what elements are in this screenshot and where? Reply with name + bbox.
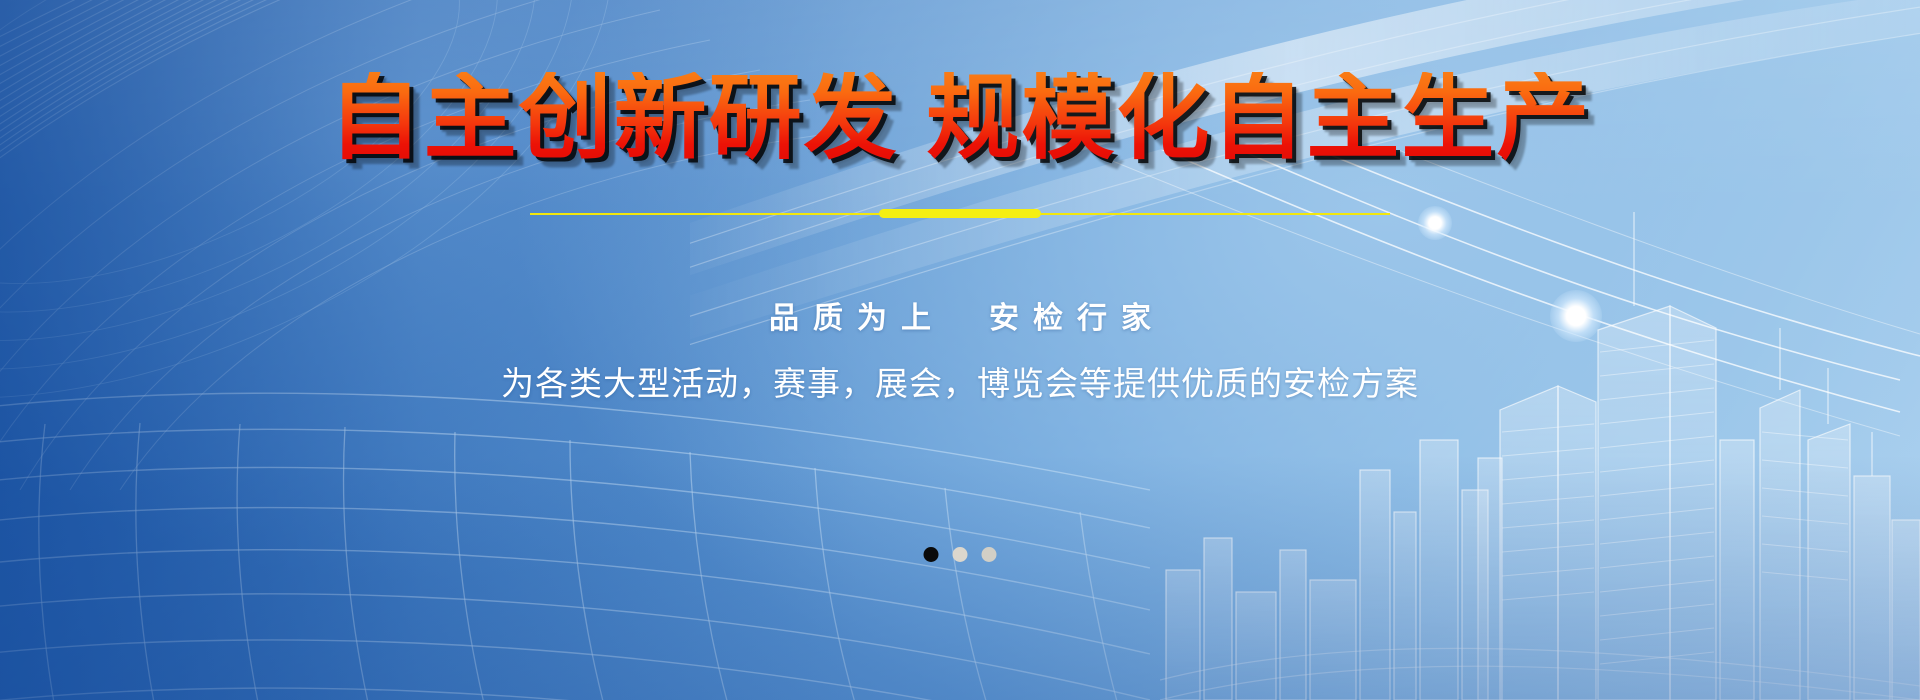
banner-tagline: 为各类大型活动，赛事，展会，博览会等提供优质的安检方案 <box>501 357 1419 405</box>
carousel-dots[interactable] <box>924 547 997 562</box>
hero-banner: 自主创新研发 规模化自主生产 品质为上 安检行家 为各类大型活动，赛事，展会，博… <box>0 0 1920 700</box>
banner-content: 自主创新研发 规模化自主生产 品质为上 安检行家 为各类大型活动，赛事，展会，博… <box>0 0 1920 700</box>
divider-nub <box>879 209 1041 218</box>
banner-headline: 自主创新研发 规模化自主生产 <box>329 72 1592 165</box>
carousel-dot-2[interactable] <box>953 547 968 562</box>
carousel-dot-3[interactable] <box>982 547 997 562</box>
yellow-divider <box>530 207 1390 221</box>
banner-slogan: 品质为上 安检行家 <box>755 293 1165 337</box>
carousel-dot-1[interactable] <box>924 547 939 562</box>
